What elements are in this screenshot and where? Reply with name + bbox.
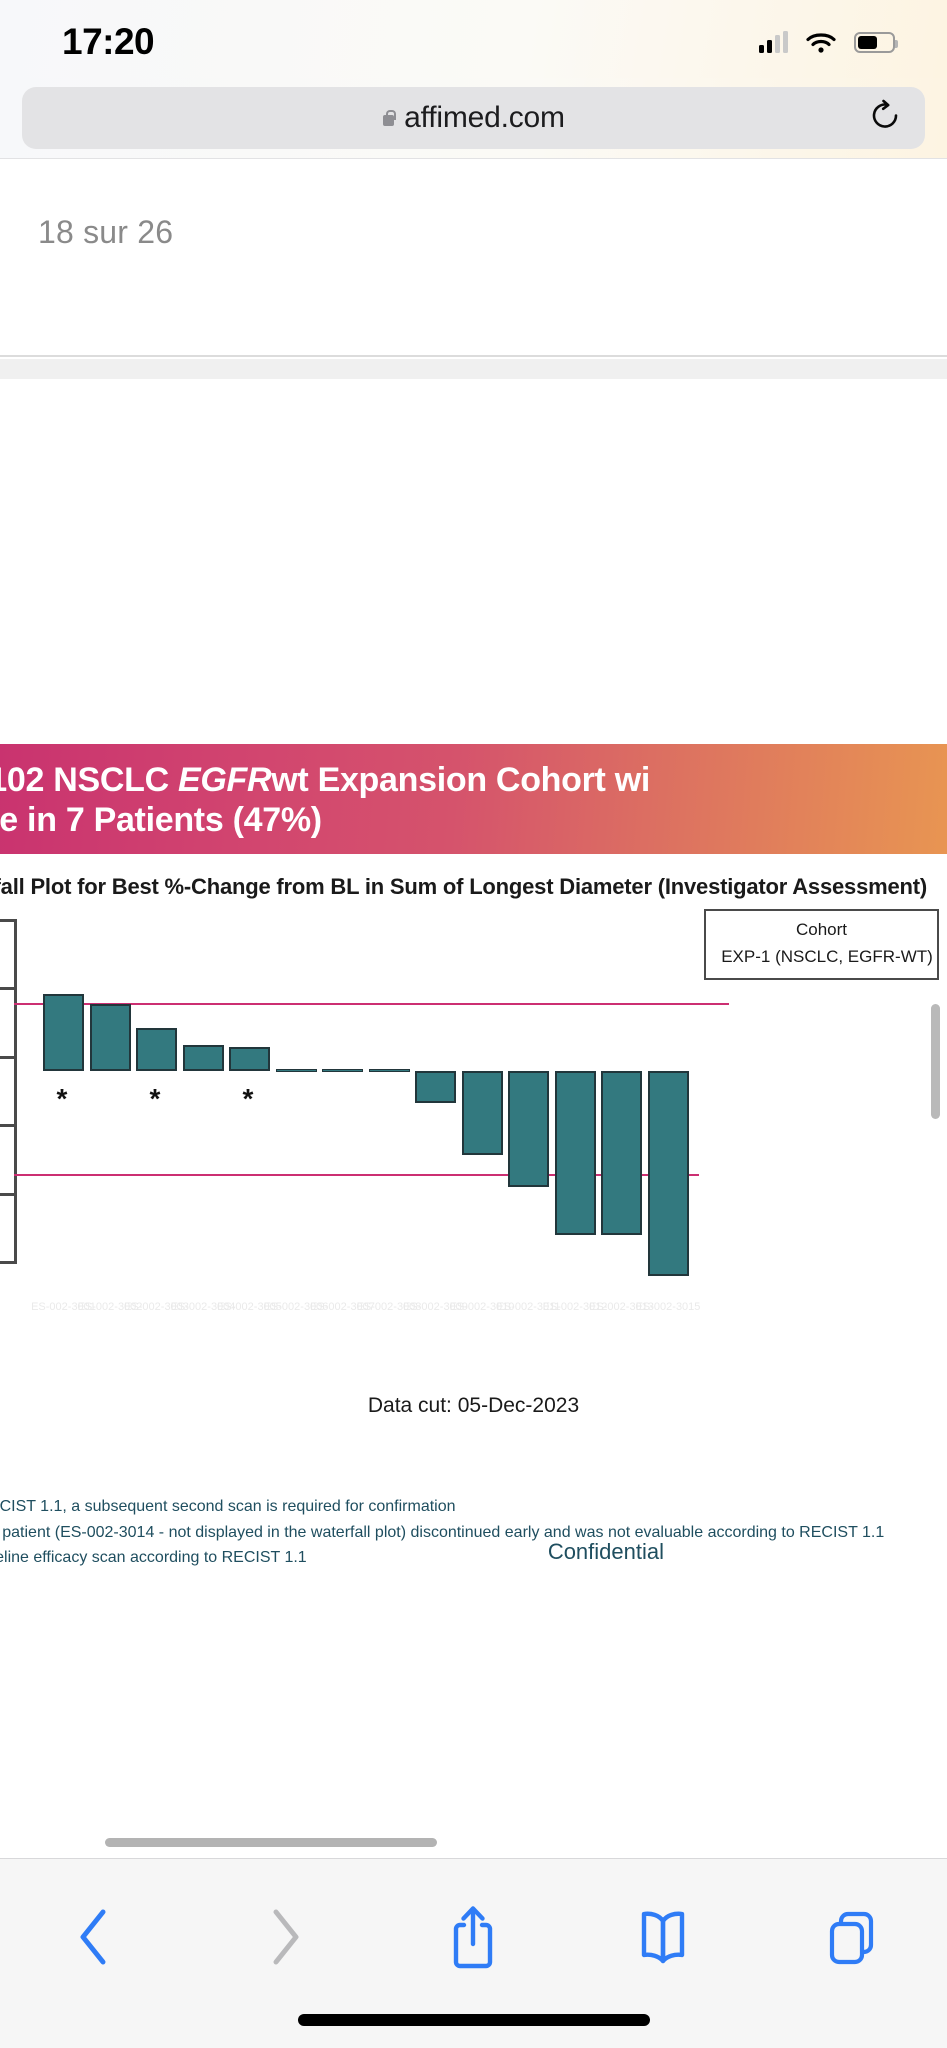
page-separator-top (0, 355, 947, 357)
banner-line2: inkage in 7 Patients (47%) (0, 800, 947, 840)
chart-bar (322, 1069, 363, 1072)
horizontal-scrollbar[interactable] (105, 1838, 437, 1847)
legend-entry: EXP-1 (NSCLC, EGFR-WT) (716, 947, 927, 967)
wifi-icon (805, 30, 837, 54)
chart-legend: Cohort EXP-1 (NSCLC, EGFR-WT) (704, 909, 939, 980)
back-icon (73, 1906, 117, 1968)
browser-url-bar[interactable]: affimed.com (0, 78, 947, 158)
y-axis-tick (0, 1124, 14, 1127)
confidential-label: Confidential (548, 1539, 664, 1565)
slide-canvas: M24-102 NSCLC EGFRwt Expansion Cohort wi… (0, 379, 947, 1669)
back-button[interactable] (40, 1895, 150, 1979)
y-axis-tick (0, 1193, 14, 1196)
reload-icon[interactable] (871, 100, 901, 137)
waterfall-chart: *** ES-002-3001ES-002-3002ES-002-3003ES-… (0, 909, 947, 1509)
chart-bar (555, 1071, 596, 1235)
chart-bar (415, 1071, 456, 1103)
bookmarks-button[interactable] (608, 1895, 718, 1979)
chart-bar (183, 1045, 224, 1071)
y-axis-tick (0, 919, 14, 922)
reference-line-lower (14, 1174, 699, 1176)
slide-banner-text: M24-102 NSCLC EGFRwt Expansion Cohort wi… (0, 760, 947, 840)
footnote-3: -baseline efficacy scan according to REC… (0, 1545, 947, 1571)
battery-icon (854, 32, 895, 53)
chart-bar (648, 1071, 689, 1276)
share-button[interactable] (418, 1895, 528, 1979)
chart-bar (229, 1047, 270, 1071)
chart-bar (462, 1071, 503, 1155)
address-field[interactable]: affimed.com (22, 87, 925, 149)
bookmarks-icon (634, 1908, 692, 1966)
safari-bottom-toolbar (0, 1858, 947, 2048)
chart-bar (369, 1069, 410, 1072)
status-time: 17:20 (62, 21, 154, 63)
status-indicators (759, 30, 895, 54)
page-separator (0, 359, 947, 379)
tabs-icon (823, 1908, 881, 1966)
slide-footnotes: o RECIST 1.1, a subsequent second scan i… (0, 1494, 947, 1571)
chart-title: aterfall Plot for Best %-Change from BL … (0, 874, 947, 900)
cellular-signal-icon (759, 31, 788, 53)
web-page-content[interactable]: 18 sur 26 M24-102 NSCLC EGFRwt Expansion… (0, 159, 947, 1858)
banner-line1-pre: M24-102 NSCLC (0, 761, 178, 799)
vertical-scrollbar[interactable] (931, 1004, 940, 1119)
slide-banner: M24-102 NSCLC EGFRwt Expansion Cohort wi… (0, 744, 947, 854)
forward-icon (262, 1906, 306, 1968)
bar-annotation-asterisk: * (57, 1085, 68, 1113)
legend-entry-label: EXP-1 (NSCLC, EGFR-WT) (721, 947, 933, 967)
chart-bar (90, 1004, 131, 1071)
tabs-button[interactable] (797, 1895, 907, 1979)
chart-bar (601, 1071, 642, 1235)
home-indicator (298, 2014, 650, 2026)
chart-bar (43, 994, 84, 1071)
y-axis-tick (0, 987, 14, 990)
y-axis-tick (0, 1261, 14, 1264)
legend-title: Cohort (716, 920, 927, 940)
forward-button[interactable] (229, 1895, 339, 1979)
bar-annotation-asterisk: * (243, 1085, 254, 1113)
share-icon (447, 1903, 499, 1971)
x-axis-labels: ES-002-3001ES-002-3002ES-002-3003ES-002-… (17, 1301, 947, 1323)
chart-bar (136, 1028, 177, 1071)
pdf-page-counter: 18 sur 26 (38, 214, 173, 251)
chart-bar (276, 1069, 317, 1072)
lock-icon (382, 110, 395, 126)
data-cut-label: Data cut: 05-Dec-2023 (0, 1394, 947, 1418)
url-text: affimed.com (404, 101, 565, 135)
footnote-1: o RECIST 1.1, a subsequent second scan i… (0, 1494, 947, 1520)
banner-line1-emphasis: EGFR (178, 761, 271, 799)
y-axis-tick (0, 1056, 14, 1059)
footnote-2: ional patient (ES-002-3014 - not display… (0, 1520, 947, 1546)
bar-annotation-asterisk: * (150, 1085, 161, 1113)
banner-line1-post: wt Expansion Cohort wi (271, 761, 650, 799)
x-axis-tick-label: ES-002-3015 (636, 1301, 701, 1313)
chart-bar (508, 1071, 549, 1187)
ios-status-bar: 17:20 (0, 0, 947, 78)
